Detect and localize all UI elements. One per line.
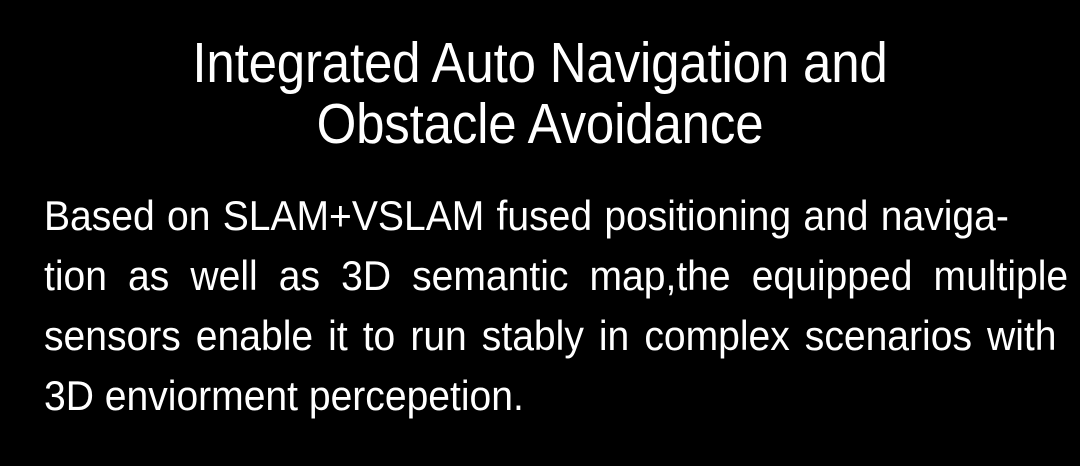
body-line-3: sensors enable it to run stably in compl…: [44, 306, 967, 366]
slide-body-paragraph: Based on SLAM+VSLAM fused positioning an…: [44, 186, 1036, 426]
body-line-2: tion as well as 3D semantic map,the equi…: [44, 246, 967, 306]
title-line-2: Obstacle Avoidance: [57, 94, 1024, 155]
body-line-4: 3D enviorment percepetion.: [44, 366, 967, 426]
title-line-1: Integrated Auto Navigation and: [57, 33, 1024, 94]
body-line-1: Based on SLAM+VSLAM fused positioning an…: [44, 186, 967, 246]
slide-title: Integrated Auto Navigation and Obstacle …: [0, 33, 1080, 155]
slide-canvas: Integrated Auto Navigation and Obstacle …: [0, 0, 1080, 466]
